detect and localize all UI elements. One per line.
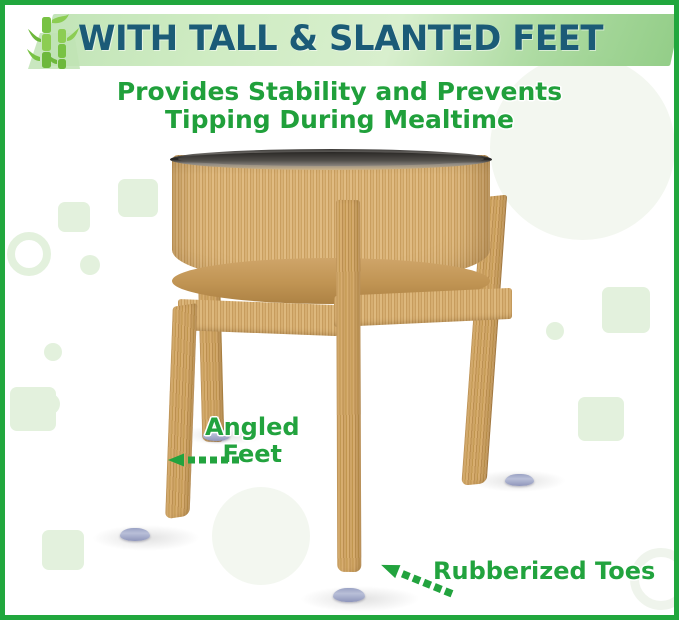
infographic-canvas: WITH TALL & SLANTED FEET Provides Stabil…: [0, 0, 679, 620]
support-rail-left: [178, 299, 338, 336]
subtitle-line-1: Provides Stability and Prevents: [0, 78, 679, 106]
leg-front-center: [336, 200, 361, 572]
frame-border-right: [674, 0, 679, 620]
callout-angled-feet-arrow: [168, 452, 240, 466]
subtitle-line-2: Tipping During Mealtime: [0, 106, 679, 134]
callout-rubberized-toes-line-1: Rubberized Toes: [433, 558, 655, 585]
frame-border-bottom: [0, 615, 679, 620]
frame-border-left: [0, 0, 5, 620]
leg-front-left: [165, 303, 197, 519]
stainless-steel-rim-inner: [178, 152, 484, 166]
rubberized-toe-back-right: [505, 474, 534, 486]
page-title: WITH TALL & SLANTED FEET: [78, 13, 650, 65]
page-subtitle: Provides Stability and Prevents Tipping …: [0, 78, 679, 134]
rubberized-toe-front-left: [120, 528, 150, 541]
frame-border-top: [0, 0, 679, 5]
bamboo-stalks-icon: [26, 11, 82, 73]
callout-rubberized-toes-label: Rubberized Toes: [433, 558, 655, 585]
callout-rubberized-toes-arrow: [376, 555, 466, 607]
callout-angled-feet-line-1: Angled: [205, 414, 300, 441]
rubberized-toe-front-center: [333, 588, 365, 602]
